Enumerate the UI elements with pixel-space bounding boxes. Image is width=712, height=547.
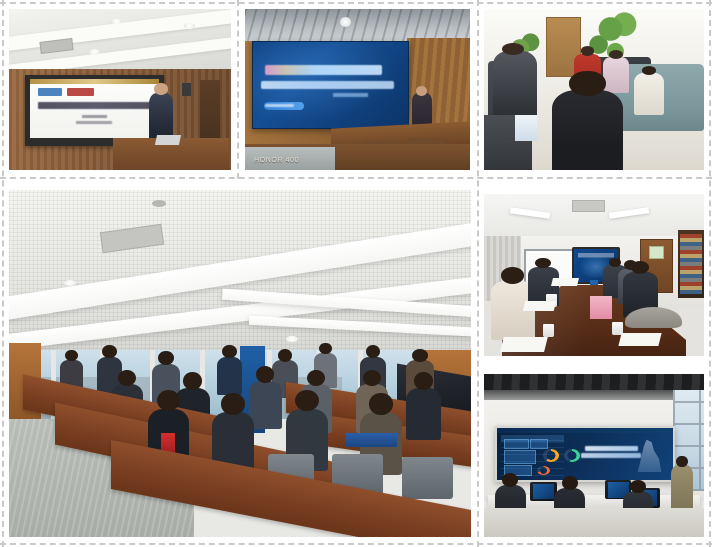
downlight	[111, 19, 122, 24]
person-head	[609, 258, 622, 267]
slide-date-text	[76, 121, 112, 124]
person-head	[295, 390, 318, 411]
grid-line-col1	[237, 0, 239, 179]
photo-collage: HONOR 400	[0, 0, 712, 547]
wall-notice	[649, 246, 664, 259]
slide-title-text	[38, 102, 151, 109]
photo-lecture-hall-presenter[interactable]	[9, 9, 231, 170]
university-logo-icon	[38, 88, 62, 96]
seated-person	[493, 51, 537, 119]
camera-watermark: HONOR 400	[254, 157, 299, 164]
slide-presenter-text	[82, 115, 108, 118]
bookshelf	[678, 230, 704, 298]
seat-back	[402, 457, 453, 499]
paper-sheet	[551, 278, 579, 286]
person-head	[412, 349, 428, 362]
screen-subtitle-text	[581, 453, 641, 458]
person-head	[256, 366, 274, 383]
person-head	[562, 476, 578, 490]
grid-line-right	[709, 0, 711, 547]
partner-logo-icon	[67, 88, 94, 96]
person-head	[307, 370, 325, 387]
led-signature-text	[333, 93, 367, 96]
led-screen	[252, 41, 409, 128]
person-head	[102, 345, 116, 358]
led-badge-text	[265, 104, 294, 107]
person-head	[363, 370, 381, 387]
led-title-line2	[261, 81, 395, 90]
downlight	[286, 336, 298, 342]
presenter-head	[154, 83, 168, 95]
person-head	[158, 351, 174, 365]
paper-bag	[515, 115, 537, 141]
slide-gold-bar	[30, 79, 159, 84]
audience-member	[249, 381, 281, 430]
person-head	[118, 370, 136, 387]
projection-screen	[25, 75, 165, 146]
person-head	[157, 390, 180, 411]
donut-chart	[543, 449, 559, 462]
screen-title-text	[585, 446, 638, 451]
person-head	[609, 50, 623, 59]
person-head	[569, 71, 606, 96]
person-head	[502, 43, 525, 55]
grid-line-col2	[477, 0, 479, 547]
person-head	[369, 393, 392, 414]
floor	[484, 508, 704, 537]
grid-line-row1-bottom	[0, 177, 712, 179]
person-head	[183, 372, 202, 390]
led-title-line1	[265, 65, 381, 75]
desktop-monitor	[530, 482, 556, 502]
person-head	[65, 350, 78, 362]
pink-folder	[590, 296, 612, 319]
paper-sheet	[522, 301, 555, 311]
paper-sheet	[619, 333, 662, 346]
ceiling-beam	[484, 374, 704, 390]
person-head	[319, 343, 332, 355]
monitor-screen	[533, 484, 554, 500]
presentation-slide	[30, 79, 159, 138]
seated-person-white	[634, 73, 665, 115]
air-vent	[572, 200, 605, 212]
donut-chart	[537, 466, 549, 475]
speaker-head	[416, 86, 427, 96]
photo-led-dashboard-lab[interactable]	[484, 374, 704, 537]
person-head	[581, 46, 595, 55]
photo-blue-led-screen-lecture[interactable]: HONOR 400	[245, 9, 470, 170]
dashboard-card	[504, 450, 536, 463]
photo-large-lecture-hall-audience[interactable]	[9, 190, 471, 537]
grid-line-left	[2, 0, 4, 547]
foreground-person	[552, 90, 622, 171]
person-head	[501, 267, 524, 283]
person-head	[222, 345, 236, 358]
photo-small-meeting-room[interactable]	[484, 194, 704, 356]
paper-sheet	[500, 337, 548, 352]
ceiling-light	[340, 17, 351, 27]
grid-line-top	[0, 2, 712, 4]
led-badge	[264, 102, 304, 110]
blue-box	[346, 433, 397, 447]
seated-person-floral	[603, 57, 629, 92]
dashboard-top-bar	[497, 428, 673, 433]
downlight	[89, 49, 100, 54]
audience-member	[406, 388, 441, 440]
grid-line-bottom	[0, 543, 712, 545]
laptop	[154, 135, 180, 145]
person-head	[631, 261, 649, 274]
dashboard-card	[530, 439, 548, 449]
photo-office-lounge-discussion[interactable]	[484, 9, 704, 170]
person-with-cap	[625, 307, 682, 328]
person-head	[676, 456, 687, 468]
person-head	[630, 480, 646, 494]
downlight	[184, 23, 195, 28]
led-dashboard-screen	[495, 426, 675, 482]
wall-speaker	[182, 83, 191, 96]
slide-logos	[38, 88, 94, 96]
person-head	[414, 372, 433, 390]
dashboard-card	[504, 439, 529, 449]
person-head	[502, 473, 518, 487]
paper-cup	[543, 324, 554, 337]
audience-member	[217, 357, 242, 395]
person-head	[535, 258, 551, 269]
person-head	[278, 349, 292, 362]
person-head	[642, 66, 657, 75]
person-head	[366, 345, 380, 358]
person-head	[221, 393, 244, 414]
donut-chart	[564, 449, 580, 462]
